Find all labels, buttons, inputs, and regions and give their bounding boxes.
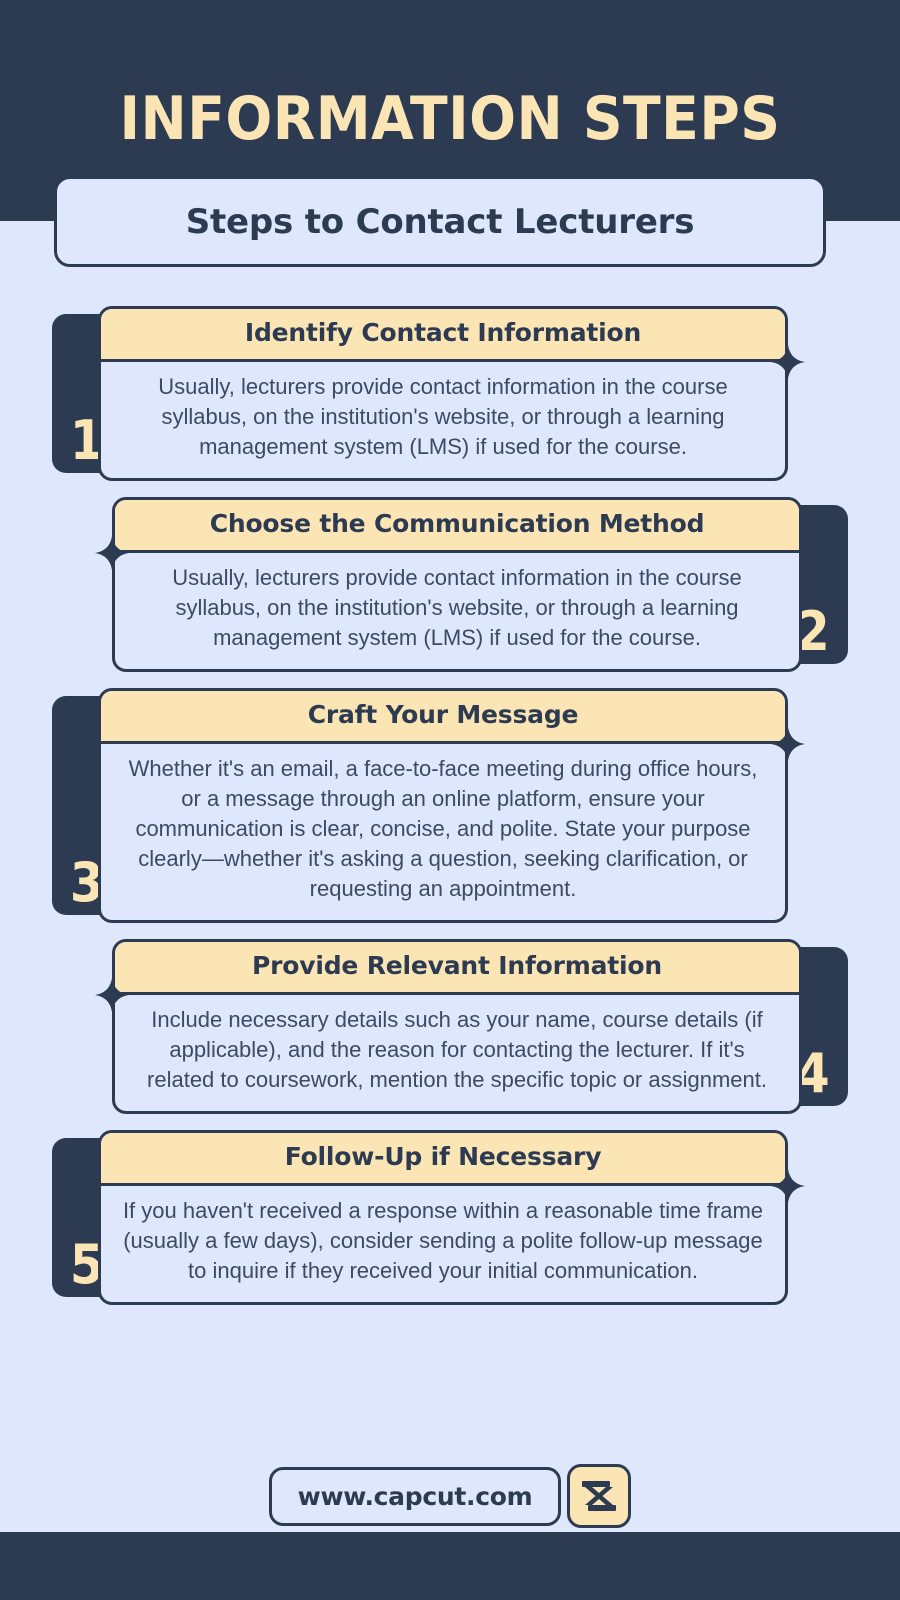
list-item: 1 Identify Contact Information Usually, …: [0, 306, 900, 481]
list-item: 3 Craft Your Message Whether it's an ema…: [0, 688, 900, 923]
step-body: Whether it's an email, a face-to-face me…: [101, 744, 785, 920]
step-body: Usually, lecturers provide contact infor…: [101, 362, 785, 478]
list-item: 4 Provide Relevant Information Include n…: [0, 939, 900, 1114]
footer-branding: www.capcut.com: [0, 1464, 900, 1528]
step-title: Identify Contact Information: [245, 318, 641, 347]
star-decoration-icon: [771, 727, 805, 761]
list-item: 2 Choose the Communication Method Usuall…: [0, 497, 900, 672]
step-card: Choose the Communication Method Usually,…: [112, 497, 802, 672]
step-title-bar: Choose the Communication Method: [115, 500, 799, 553]
steps-list: 1 Identify Contact Information Usually, …: [0, 306, 900, 1321]
step-description: Usually, lecturers provide contact infor…: [158, 374, 727, 459]
subtitle-text: Steps to Contact Lecturers: [186, 202, 695, 242]
website-url: www.capcut.com: [298, 1482, 533, 1511]
list-item: 5 Follow-Up if Necessary If you haven't …: [0, 1130, 900, 1305]
step-body: If you haven't received a response withi…: [101, 1186, 785, 1302]
star-decoration-icon: [95, 536, 129, 570]
footer-band: [0, 1532, 900, 1600]
step-title-bar: Follow-Up if Necessary: [101, 1133, 785, 1186]
capcut-logo-tile[interactable]: [567, 1464, 631, 1528]
star-decoration-icon: [771, 345, 805, 379]
star-decoration-icon: [95, 978, 129, 1012]
step-description: Whether it's an email, a face-to-face me…: [129, 756, 758, 901]
page-title: INFORMATION STEPS: [36, 88, 864, 150]
step-title: Choose the Communication Method: [210, 509, 705, 538]
subtitle-box: Steps to Contact Lecturers: [54, 176, 826, 267]
step-card: Provide Relevant Information Include nec…: [112, 939, 802, 1114]
step-title-bar: Provide Relevant Information: [115, 942, 799, 995]
step-description: Usually, lecturers provide contact infor…: [172, 565, 741, 650]
step-title: Provide Relevant Information: [252, 951, 662, 980]
step-card: Follow-Up if Necessary If you haven't re…: [98, 1130, 788, 1305]
step-card: Identify Contact Information Usually, le…: [98, 306, 788, 481]
step-title-bar: Identify Contact Information: [101, 309, 785, 362]
step-title-bar: Craft Your Message: [101, 691, 785, 744]
step-card: Craft Your Message Whether it's an email…: [98, 688, 788, 923]
step-body: Include necessary details such as your n…: [115, 995, 799, 1111]
step-title: Follow-Up if Necessary: [285, 1142, 602, 1171]
step-description: Include necessary details such as your n…: [147, 1007, 767, 1092]
step-body: Usually, lecturers provide contact infor…: [115, 553, 799, 669]
website-url-pill[interactable]: www.capcut.com: [269, 1467, 562, 1526]
step-title: Craft Your Message: [308, 700, 579, 729]
step-description: If you haven't received a response withi…: [123, 1198, 763, 1283]
capcut-hourglass-icon: [580, 1479, 618, 1513]
star-decoration-icon: [771, 1169, 805, 1203]
